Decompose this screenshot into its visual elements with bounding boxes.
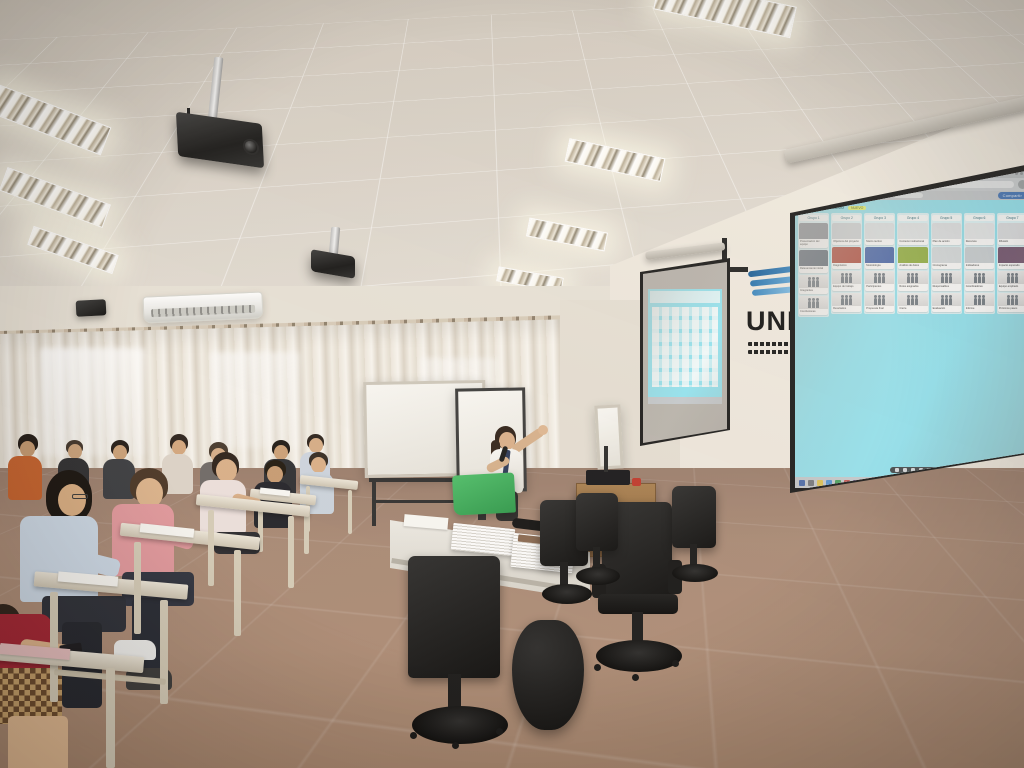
wall-speaker: [76, 299, 107, 317]
board-column-header: Grupo 6: [965, 215, 994, 221]
board-column[interactable]: Grupo 3Marco teóricoMetodologíaParticipa…: [864, 213, 895, 314]
board-column[interactable]: Grupo 1Presentación del equipoRelevamien…: [798, 213, 829, 317]
card-image: [998, 247, 1024, 263]
board-card[interactable]: Próximos pasos: [998, 293, 1024, 312]
attendee-back-5-head: [113, 445, 127, 460]
card-people-photo: [865, 271, 894, 284]
board-card[interactable]: Presentación del equipo: [799, 223, 828, 248]
card-people-photo: [799, 275, 828, 288]
board-card[interactable]: Resultados: [832, 293, 861, 312]
card-image: [799, 250, 828, 266]
green-cloth-on-chair: [452, 472, 516, 515]
board-card[interactable]: Análisis de datos: [898, 247, 927, 269]
office-chair-back-3-back: [672, 486, 716, 548]
board-columns: Grupo 1Presentación del equipoRelevamien…: [798, 213, 1024, 474]
attendee-back-7-head: [20, 441, 35, 457]
office-chair-right-caster-1: [594, 664, 601, 671]
pen-icon[interactable]: [895, 468, 899, 472]
card-image: [998, 223, 1024, 239]
office-chair-right-caster-3: [672, 660, 679, 667]
board-column[interactable]: Grupo 5Plan de acciónCronogramaResponsab…: [931, 213, 962, 314]
board-card[interactable]: Coordinadores: [965, 271, 994, 290]
board-column[interactable]: Grupo 6RecursosIndicadoresCoordinadoresI…: [964, 213, 995, 314]
card-caption: Roles asignados: [898, 284, 927, 290]
board-header: Tablero colaborativo NUEVO: [798, 204, 1024, 213]
card-caption: Contexto institucional: [898, 239, 927, 245]
card-people-photo: [965, 271, 994, 284]
board-card[interactable]: Indicadores: [965, 247, 994, 269]
board-card[interactable]: Informe: [965, 293, 994, 312]
office-chair-back-2[interactable]: [576, 493, 626, 593]
account-avatar-icon[interactable]: [1018, 180, 1024, 189]
board-card[interactable]: Contexto institucional: [898, 223, 927, 245]
attendee-back-6-head: [68, 444, 82, 459]
mail-icon[interactable]: [835, 480, 841, 486]
card-caption: Plan de acción: [932, 239, 961, 245]
secondary-projection-screen: [640, 258, 730, 446]
card-people-photo: [932, 271, 961, 284]
student-desk-front-4: [196, 500, 316, 592]
card-people-photo: [832, 293, 861, 306]
card-caption: Evaluación: [932, 306, 961, 312]
office-chair-front-caster-3: [496, 728, 503, 735]
card-image: [865, 223, 894, 239]
card-caption: Integrantes: [799, 288, 828, 294]
classroom-photo-scene: UNER: [0, 0, 1024, 768]
attendee-blue-shirt-glasses-icon: [72, 494, 88, 499]
office-chair-front-back: [408, 556, 500, 678]
desk-leg: [348, 490, 352, 534]
split-air-conditioner: [142, 291, 263, 323]
card-people-photo: [898, 293, 927, 306]
board-card[interactable]: Plan de acción: [932, 223, 961, 245]
board-card[interactable]: Objetivos del proyecto: [832, 223, 861, 245]
office-chair-front-caster-1: [410, 732, 417, 739]
secondary-screen-surface: [643, 261, 727, 443]
board-filter-chip[interactable]: [893, 193, 923, 198]
sticky-note-icon[interactable]: [911, 468, 915, 472]
office-chair-front-base: [412, 706, 508, 744]
card-caption: Cronograma: [932, 263, 961, 269]
card-caption: Impacto esperado: [998, 263, 1024, 269]
card-caption: Conclusiones: [799, 309, 828, 315]
main-screen-surface: Compartir Tablero colaborativo NUEVO Gru…: [795, 168, 1024, 488]
card-image: [832, 247, 861, 263]
card-caption: Cierre: [898, 306, 927, 312]
board-card[interactable]: Equipo ampliado: [998, 271, 1024, 290]
card-caption: Responsables: [932, 284, 961, 290]
card-caption: Difusión: [998, 239, 1024, 245]
board-card[interactable]: Responsables: [932, 271, 961, 290]
board-card[interactable]: Difusión: [998, 223, 1024, 245]
card-caption: Presentación del equipo: [799, 239, 828, 248]
card-image: [865, 247, 894, 263]
board-badge: NUEVO: [848, 206, 866, 210]
black-backpack: [512, 620, 584, 730]
search-icon[interactable]: [808, 480, 814, 486]
card-people-photo: [832, 271, 861, 284]
card-caption: Recursos: [965, 239, 994, 245]
board-card[interactable]: Integrantes: [799, 275, 828, 294]
card-caption: Próximos pasos: [998, 306, 1024, 312]
card-image: [932, 247, 961, 263]
student-desk-front-2: [0, 650, 150, 768]
board-card[interactable]: Evaluación: [932, 293, 961, 312]
card-people-photo: [965, 293, 994, 306]
red-object: [632, 478, 641, 486]
projected-browser-window: Compartir Tablero colaborativo NUEVO Gru…: [795, 168, 1024, 488]
minimize-icon[interactable]: [1015, 172, 1018, 175]
share-button[interactable]: Compartir: [998, 192, 1024, 199]
office-chair-right-seat: [598, 594, 678, 614]
attendee-back-1-head: [309, 438, 323, 453]
card-image: [965, 223, 994, 239]
attendee-blue-shirt-head: [58, 484, 86, 516]
card-caption: Coordinadores: [965, 284, 994, 290]
card-caption: Relevamiento inicial: [799, 266, 828, 272]
board-column[interactable]: Grupo 7DifusiónImpacto esperadoEquipo am…: [997, 213, 1024, 314]
board-card[interactable]: Diagnóstico: [832, 247, 861, 269]
board-card[interactable]: Roles asignados: [898, 271, 927, 290]
card-people-photo: [998, 293, 1024, 306]
office-chair-back-2-back: [576, 493, 618, 551]
office-chair-back-2-base: [576, 567, 620, 585]
cabinet-equipment: [586, 470, 630, 485]
board-card[interactable]: Cronograma: [932, 247, 961, 269]
ac-vent-icon: [151, 304, 255, 317]
office-chair-back-3[interactable]: [672, 486, 724, 588]
card-people-photo: [865, 293, 894, 306]
explorer-icon[interactable]: [817, 480, 823, 486]
card-image: [932, 223, 961, 239]
main-projection-screen: Compartir Tablero colaborativo NUEVO Gru…: [790, 163, 1024, 493]
card-caption: Equipo ampliado: [998, 284, 1024, 290]
card-caption: Resultados: [832, 306, 861, 312]
attendee-back-2-head: [274, 445, 288, 460]
attendee-right-1-head: [311, 457, 326, 473]
board-column-header: Grupo 7: [998, 215, 1024, 221]
card-image: [799, 223, 828, 239]
card-caption: Participantes: [865, 284, 894, 290]
board-column[interactable]: Grupo 4Contexto institucionalAnálisis de…: [897, 213, 928, 314]
presenter-hand: [538, 425, 548, 435]
card-caption: Objetivos del proyecto: [832, 239, 861, 245]
desk-leg: [288, 516, 294, 588]
board-card[interactable]: Relevamiento inicial: [799, 250, 828, 272]
desk-leg: [106, 668, 115, 768]
card-image: [965, 247, 994, 263]
board-card[interactable]: Cierre: [898, 293, 927, 312]
board-card[interactable]: Equipo de trabajo: [832, 271, 861, 290]
window-controls[interactable]: [1015, 172, 1024, 175]
desk-lamp-stand: [604, 446, 608, 472]
board-card[interactable]: Impacto esperado: [998, 247, 1024, 269]
wall-mounted-panel: [594, 404, 623, 469]
board-card[interactable]: Metodología: [865, 247, 894, 269]
card-caption: Diagnóstico: [832, 263, 861, 269]
text-icon[interactable]: [903, 468, 907, 472]
card-caption: Metodología: [865, 263, 894, 269]
card-image: [898, 223, 927, 239]
board-card[interactable]: Marco teórico: [865, 223, 894, 245]
card-caption: Informe: [965, 306, 994, 312]
card-people-photo: [998, 271, 1024, 284]
card-caption: Indicadores: [965, 263, 994, 269]
attendee-back-4-head: [172, 440, 186, 455]
desk-leg: [208, 510, 214, 586]
office-chair-right-base: [596, 640, 682, 672]
card-caption: Equipo de trabajo: [832, 284, 861, 290]
card-image: [832, 223, 861, 239]
start-icon[interactable]: [799, 480, 805, 486]
desk-leg: [134, 542, 141, 634]
office-chair-front-caster-2: [452, 742, 459, 749]
office-chair-right-caster-2: [632, 674, 639, 681]
board-card[interactable]: Recursos: [965, 223, 994, 245]
card-image: [898, 247, 927, 263]
office-chair-front[interactable]: [408, 556, 512, 756]
maximize-icon[interactable]: [1020, 172, 1023, 175]
collaborative-board: Tablero colaborativo NUEVO Grupo 1Presen…: [795, 200, 1024, 477]
board-column-header: Grupo 4: [898, 215, 927, 221]
card-people-photo: [799, 296, 828, 309]
window-light-2: [210, 352, 300, 448]
office-chair-back-3-base: [672, 564, 718, 582]
board-column[interactable]: Grupo 2Objetivos del proyectoDiagnóstico…: [831, 213, 862, 314]
card-caption: Marco teórico: [865, 239, 894, 245]
card-caption: Propuesta final: [865, 306, 894, 312]
card-caption: Análisis de datos: [898, 263, 927, 269]
attendee-white-top-head: [216, 459, 237, 482]
card-people-photo: [932, 293, 961, 306]
board-column-header: Grupo 5: [932, 215, 961, 221]
board-column-header: Grupo 1: [799, 215, 828, 221]
board-card[interactable]: Propuesta final: [865, 293, 894, 312]
board-card[interactable]: Participantes: [865, 271, 894, 290]
card-people-photo: [898, 271, 927, 284]
board-card[interactable]: Conclusiones: [799, 296, 828, 315]
board-column-header: Grupo 2: [832, 215, 861, 221]
board-column-header: Grupo 3: [865, 215, 894, 221]
browser-icon[interactable]: [826, 480, 832, 486]
